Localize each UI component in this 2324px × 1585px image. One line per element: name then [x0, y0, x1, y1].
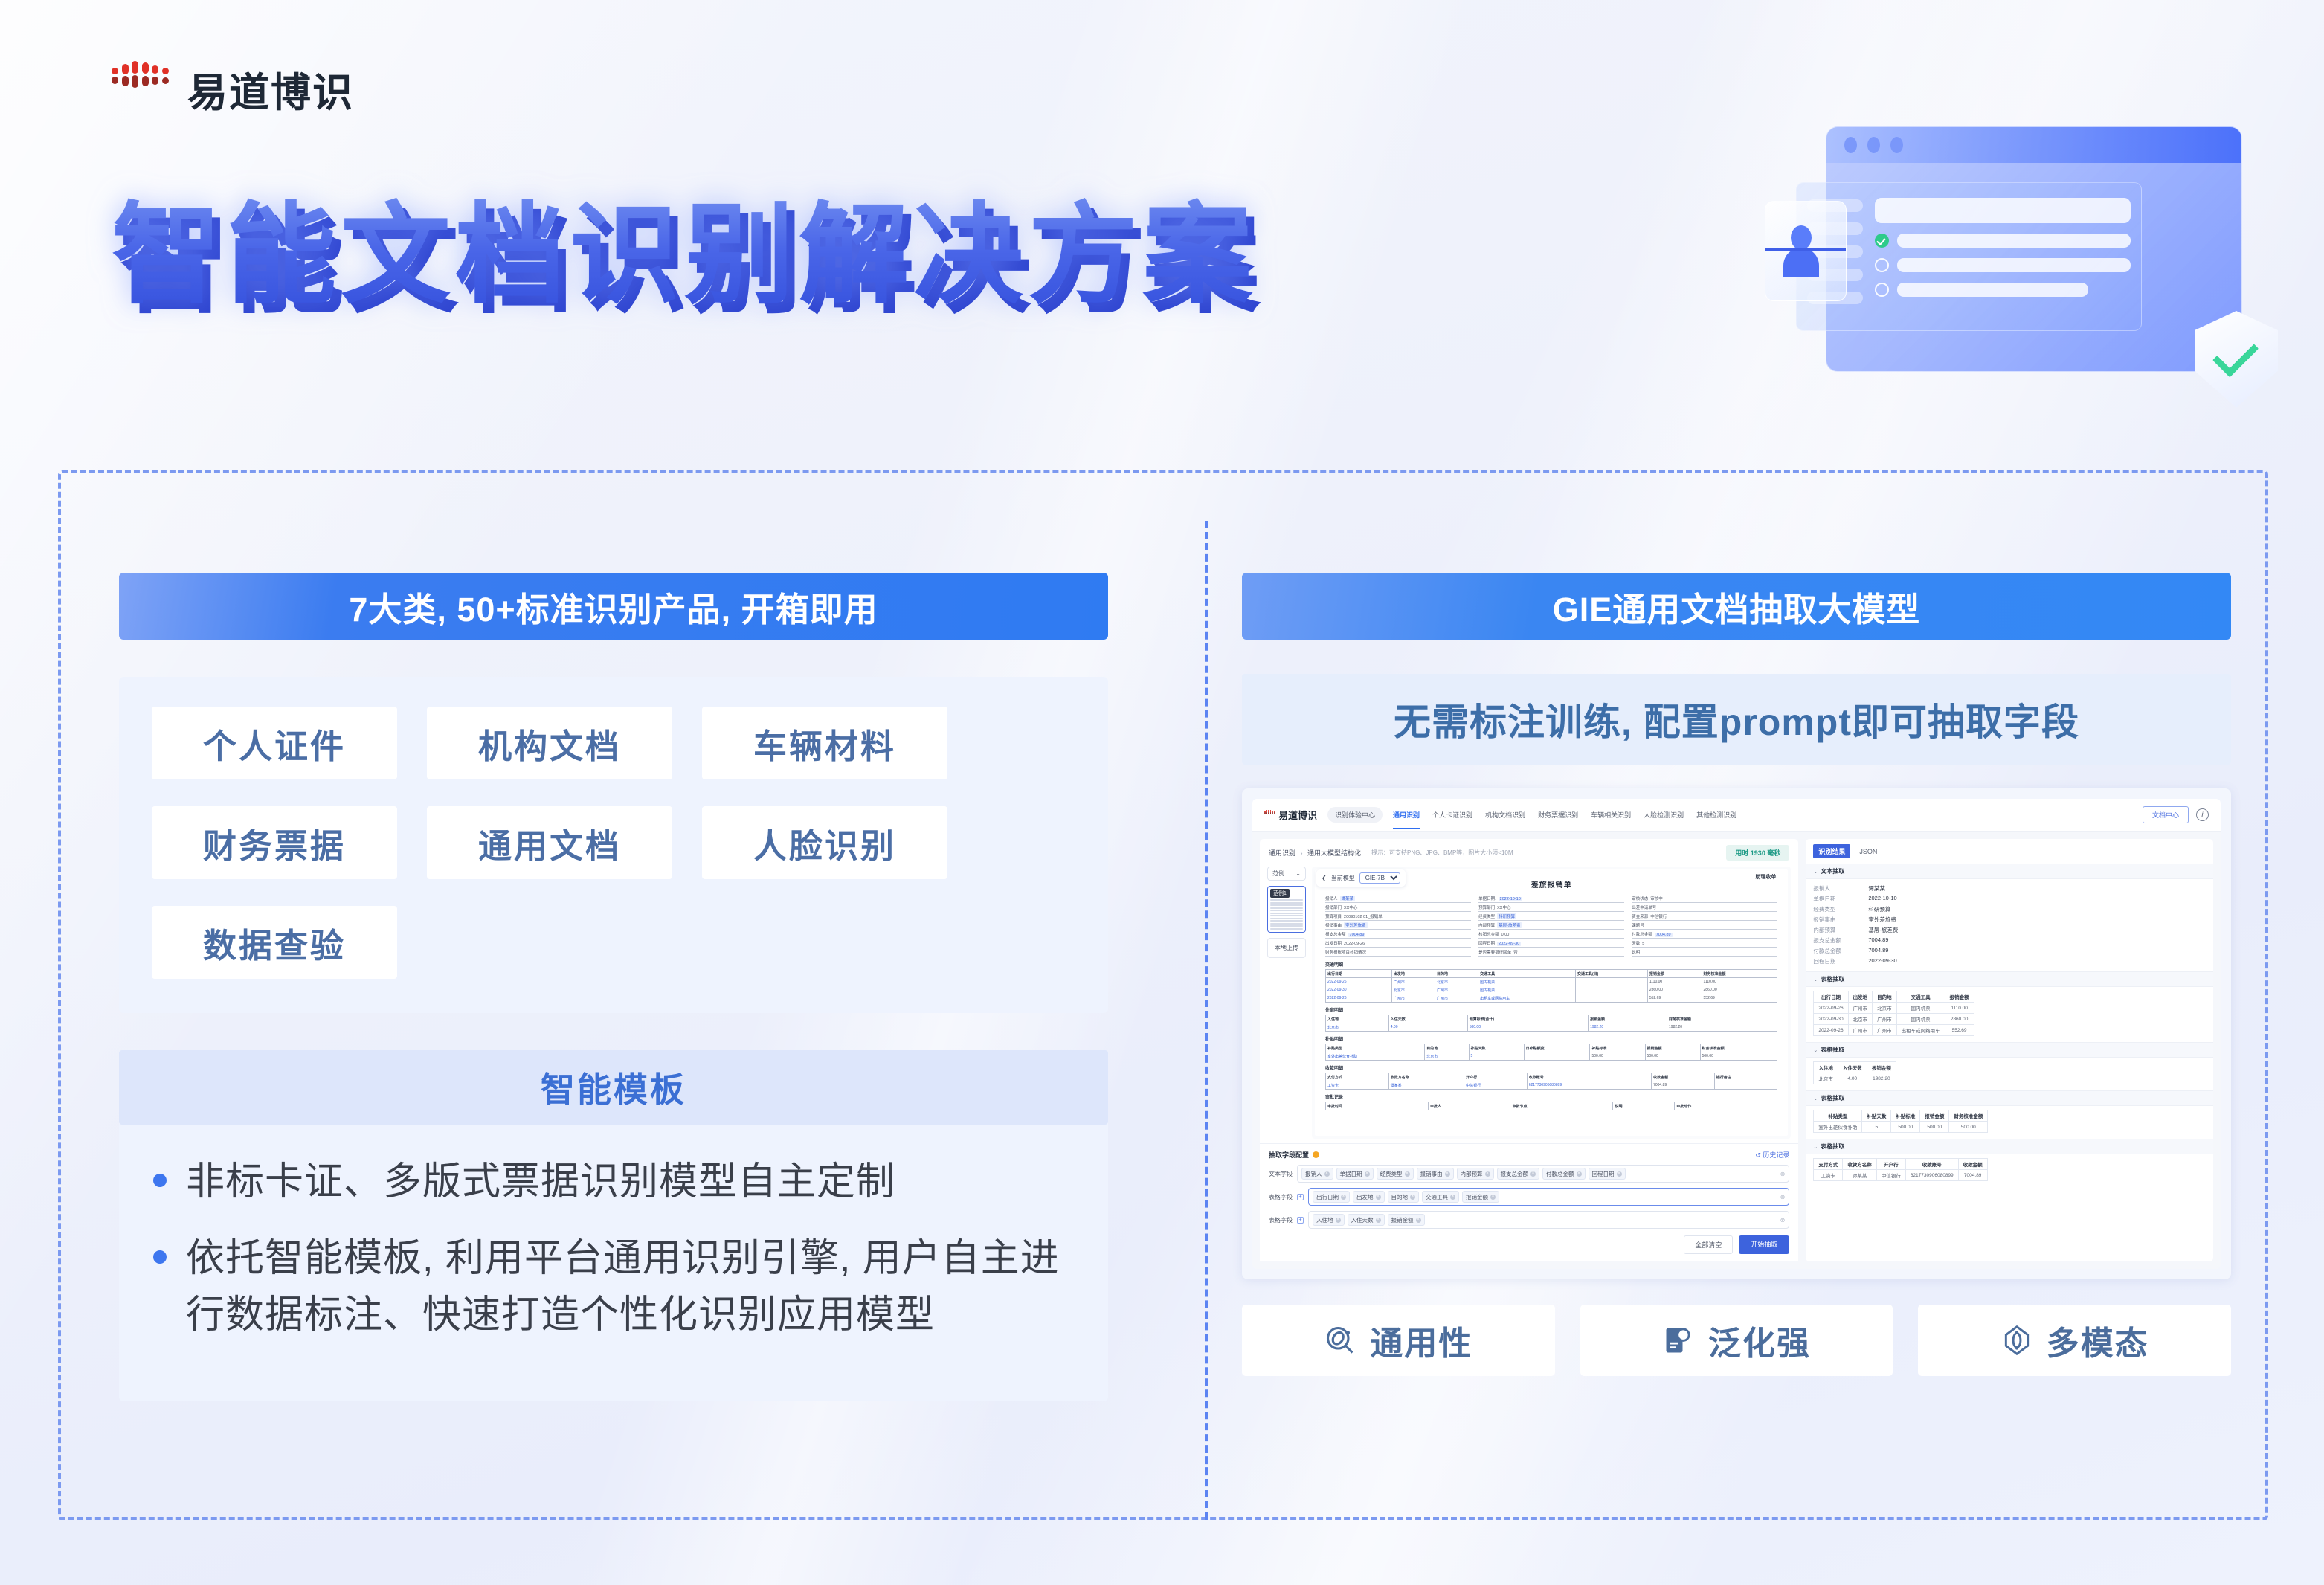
table-header-cell: 目的地 [1435, 970, 1478, 978]
sample-thumbnail[interactable]: 范例1 [1267, 886, 1306, 933]
tab-finance-invoice[interactable]: 财务票据识别 [1538, 810, 1578, 820]
remove-tag-icon[interactable]: × [1405, 1171, 1410, 1177]
table-cell [1575, 978, 1647, 986]
field-tag-label: 付款总金额 [1546, 1170, 1574, 1178]
table-header-row: 支付方式收款方名称开户行收款账号收款金额 [1814, 1159, 1987, 1170]
clear-row-icon[interactable]: ⊗ [1780, 1194, 1786, 1200]
table-cell: 2022-09-26 [1326, 994, 1392, 1003]
category-chip[interactable]: 个人证件 [152, 707, 397, 779]
form-row [1875, 283, 2131, 297]
table-header-cell: 预算标准(合计) [1467, 1015, 1588, 1023]
field-tag[interactable]: 报销事由× [1417, 1168, 1454, 1180]
tab-vehicle[interactable]: 车辆相关识别 [1591, 810, 1631, 820]
result-field-key: 内部预算 [1813, 926, 1861, 934]
expand-row-icon[interactable]: + [1297, 1194, 1304, 1200]
document-field-key: 内部预算 [1478, 922, 1495, 928]
nav-pill-experience-center[interactable]: 识别体验中心 [1327, 807, 1383, 823]
table-cell: 工资卡 [1326, 1081, 1389, 1090]
gie-app: 易道博识 识别体验中心 通用识别 个人卡证识别 机构文档识别 财务票据识别 车辆… [1252, 799, 2221, 1269]
field-tag[interactable]: 入住天数× [1348, 1214, 1385, 1226]
table-header-cell: 入住天数 [1838, 1062, 1867, 1073]
doc-center-button[interactable]: 文档中心 [2143, 806, 2189, 823]
left-panel: 7大类, 50+标准识别产品, 开箱即用 个人证件 机构文档 车辆材料 财务票据… [119, 573, 1108, 1401]
window-dot [1867, 137, 1880, 153]
result-table: 支付方式收款方名称开户行收款账号收款金额工资卡谭某某中信银行6217730906… [1813, 1158, 1987, 1181]
field-tag[interactable]: 单据日期× [1336, 1168, 1374, 1180]
table-cell: 工资卡 [1814, 1170, 1843, 1181]
bullet-text: 依托智能模板, 利用平台通用识别引擎, 用户自主进行数据标注、快速打造个性化识别… [186, 1231, 1074, 1343]
table-row: 工资卡谭某某中信银行62177309060808997004.89 [1326, 1081, 1777, 1090]
sample-select[interactable]: 范例 ⌄ [1267, 867, 1306, 881]
config-tag-box[interactable]: 报销人×单据日期×经费类型×报销事由×内部预算×报支总金额×付款总金额×回程日期… [1297, 1165, 1789, 1183]
chevron-down-icon: ⌄ [1813, 869, 1818, 875]
result-field: 报支总金额7004.89 [1813, 935, 2206, 945]
smart-template-title: 智能模板 [119, 1050, 1108, 1125]
sample-sidebar: 范例 ⌄ 范例1 本地上传 [1267, 867, 1306, 1139]
document-field-key: 天数 [1632, 940, 1640, 946]
document-field-key: 回程日期 [1478, 940, 1495, 946]
document-field-key: 付款总金额 [1632, 931, 1652, 937]
form-field-bar [1875, 198, 2131, 223]
bar-pattern-logo-icon [1264, 810, 1275, 820]
window-dot [1844, 137, 1857, 153]
result-field-value: 7004.89 [1868, 936, 1888, 945]
remove-tag-icon[interactable]: × [1376, 1195, 1381, 1200]
result-field-value: 科研预算 [1868, 905, 1890, 913]
tab-personal-card[interactable]: 个人卡证识别 [1432, 810, 1472, 820]
remove-tag-icon[interactable]: × [1416, 1218, 1421, 1223]
category-card: 个人证件 机构文档 车辆材料 财务票据 通用文档 人脸识别 数据查验 [119, 677, 1108, 1013]
bullet-text: 非标卡证、多版式票据识别模型自主定制 [186, 1154, 895, 1210]
result-table-wrap: 出行日期出发地目的地交通工具报销金额2022-09-26广州市北京市国内机票11… [1806, 987, 2213, 1042]
table-header-cell: 银行备注 [1714, 1073, 1777, 1081]
table-header-cell: 入住地 [1326, 1015, 1389, 1023]
result-table-wrap: 支付方式收款方名称开户行收款账号收款金额工资卡谭某某中信银行6217730906… [1806, 1154, 2213, 1187]
table-cell: 5 [1862, 1122, 1891, 1133]
feature-label: 多模态 [2047, 1316, 2149, 1364]
hero-illustration [1759, 112, 2279, 409]
brand-logo: 易道博识 [112, 60, 354, 118]
list-item: 依托智能模板, 利用平台通用识别引擎, 用户自主进行数据标注、快速打造个性化识别… [153, 1231, 1074, 1343]
table-cell: 2860.00 [1702, 986, 1777, 994]
table-cell: 1110.00 [1702, 978, 1777, 986]
document-field-value: 20090102 01_报销单 [1344, 913, 1383, 919]
remove-tag-icon[interactable]: × [1410, 1195, 1415, 1200]
feature-label: 通用性 [1370, 1316, 1472, 1364]
document-page: 助理收单 差旅报销单 报销人谭某某单据日期:2022-10-10审核状态审核中报… [1315, 869, 1788, 1136]
category-chip[interactable]: 机构文档 [427, 707, 672, 779]
field-tag-label: 报销人 [1305, 1170, 1322, 1178]
remove-tag-icon[interactable]: × [1336, 1218, 1341, 1223]
table-cell: 北京市 [1425, 1052, 1469, 1061]
brand-name: 易道博识 [187, 60, 354, 118]
document-field-key: 报销事由 [1325, 922, 1342, 928]
category-chip-list: 个人证件 机构文档 车辆材料 财务票据 通用文档 人脸识别 数据查验 [119, 677, 1108, 1013]
chevron-down-icon: ⌄ [1813, 1144, 1818, 1150]
config-tag-box[interactable]: 入住地×入住天数×报销金额×⊗ [1308, 1211, 1789, 1229]
table-cell: 500.00 [1700, 1052, 1777, 1061]
app-screenshot: 易道博识 识别体验中心 通用识别 个人卡证识别 机构文档识别 财务票据识别 车辆… [1242, 788, 2231, 1279]
table-header-cell: 支付方式 [1326, 1073, 1389, 1081]
chevron-down-icon: ⌄ [1813, 977, 1818, 983]
table-header-cell: 审批时间 [1326, 1102, 1429, 1110]
result-table: 补贴类型补贴天数补贴标准报销金额财务核准金额室外出差伙食补助5500.00500… [1813, 1110, 1988, 1133]
work-row: 范例 ⌄ 范例1 本地上传 [1260, 867, 1798, 1143]
table-header-row: 出行日期出发地目的地交通工具报销金额 [1814, 991, 1974, 1003]
tab-general-recognition[interactable]: 通用识别 [1393, 810, 1420, 820]
field-tag-label: 报支总金额 [1501, 1170, 1529, 1178]
field-tag-label: 报销事由 [1420, 1170, 1443, 1178]
avatar-head [1791, 225, 1812, 250]
field-tag[interactable]: 入住地× [1313, 1214, 1345, 1226]
radio-empty-icon [1875, 283, 1889, 297]
document-field-key: 报销人 [1325, 896, 1338, 901]
document-corner-note: 助理收单 [1755, 873, 1776, 881]
table-cell: 500.00 [1590, 1052, 1645, 1061]
result-field-key: 报销人 [1813, 884, 1861, 893]
expand-row-icon[interactable]: + [1297, 1217, 1304, 1224]
result-field: 内部预算基层-旅差费 [1813, 925, 2206, 935]
model-selector-bar: ❮ 当前模型 GIE-7B [1316, 869, 1406, 887]
document-field-key: 单据日期: [1478, 896, 1496, 901]
field-tag[interactable]: 内部预算× [1457, 1168, 1494, 1180]
document-field: 单据日期:2022-10-10 [1478, 896, 1624, 903]
document-field-value: 审核中 [1650, 896, 1663, 901]
document-field-key: 课题号 [1632, 922, 1644, 928]
result-field-key: 付款总金额 [1813, 947, 1861, 955]
remove-tag-icon[interactable]: × [1530, 1171, 1536, 1177]
result-field-value: 2022-10-10 [1868, 895, 1896, 903]
table-cell: 1110.00 [1647, 978, 1702, 986]
table-header-cell: 收款金额 [1652, 1073, 1715, 1081]
table-cell: 552.69 [1945, 1025, 1974, 1036]
result-text-section-title: 文本抽取 [1821, 867, 1844, 875]
sample-thumbnail-label: 范例1 [1270, 889, 1290, 898]
smart-template-card: 智能模板 非标卡证、多版式票据识别模型自主定制 依托智能模板, 利用平台通用识别… [119, 1050, 1108, 1401]
table-row: 2022-09-30北京市广州市国内机票2860.002860.00 [1326, 986, 1777, 994]
model-select[interactable]: GIE-7B [1359, 872, 1400, 884]
field-tag[interactable]: 报销金额× [1388, 1214, 1425, 1226]
field-tag-label: 入住地 [1316, 1216, 1333, 1224]
document-field-value: 2022-09-30 [1497, 942, 1521, 946]
app-navbar: 易道博识 识别体验中心 通用识别 个人卡证识别 机构文档识别 财务票据识别 车辆… [1252, 799, 2221, 832]
clear-row-icon[interactable]: ⊗ [1780, 1171, 1786, 1177]
app-brand: 易道博识 [1264, 808, 1317, 822]
extract-config: 抽取字段配置 ! ↺ 历史记录 文本字段报销人×单据日期×经费类型×报销事由×内… [1260, 1143, 1798, 1261]
tab-face-detect[interactable]: 人脸检测识别 [1644, 810, 1684, 820]
config-field-row: 表格字段+入住地×入住天数×报销金额×⊗ [1269, 1211, 1789, 1229]
field-tag[interactable]: 报支总金额× [1497, 1168, 1540, 1180]
clear-all-button[interactable]: 全部清空 [1684, 1235, 1733, 1254]
table-cell: 500.00 [1920, 1122, 1949, 1133]
field-tag[interactable]: 目的地× [1388, 1191, 1420, 1203]
field-tag-label: 目的地 [1391, 1193, 1409, 1201]
document-field: 报销人谭某某 [1325, 896, 1471, 903]
table-header-cell: 出行日期 [1326, 970, 1392, 978]
field-tag-label: 出发地 [1356, 1193, 1374, 1201]
table-row: 2022-09-26广州市广州市出租车或网络用车552.69552.69 [1326, 994, 1777, 1003]
table-header-cell: 收款账号 [1527, 1073, 1651, 1081]
document-field: 课题号 [1632, 922, 1777, 930]
document-field-value: 科研预算 [1497, 913, 1516, 919]
table-cell: 室外出差伙食补助 [1814, 1122, 1862, 1133]
table-cell: 广州市 [1391, 978, 1435, 986]
result-field-key: 回程日期 [1813, 957, 1861, 965]
document-field: 回程日期2022-09-30 [1478, 940, 1624, 948]
document-field: 报销部门XX中心 [1325, 904, 1471, 912]
page-title: 智能文档识别解决方案 智能文档识别解决方案 [112, 195, 1257, 316]
result-field-key: 单据日期 [1813, 895, 1861, 903]
app-nav-tabs: 通用识别 个人卡证识别 机构文档识别 财务票据识别 车辆相关识别 人脸检测识别 … [1393, 810, 1736, 820]
table-header-cell: 补贴天数 [1862, 1110, 1891, 1122]
table-cell: 6217730906080899 [1527, 1081, 1651, 1090]
field-tag[interactable]: 出行日期× [1313, 1191, 1350, 1203]
field-tag[interactable]: 付款总金额× [1542, 1168, 1586, 1180]
tab-org-document[interactable]: 机构文档识别 [1485, 810, 1525, 820]
result-table-wrap: 补贴类型补贴天数补贴标准报销金额财务核准金额室外出差伙食补助5500.00500… [1806, 1106, 2213, 1139]
result-field: 单据日期2022-10-10 [1813, 893, 2206, 904]
local-upload-button[interactable]: 本地上传 [1267, 938, 1306, 958]
right-panel-header: GIE通用文档抽取大模型 [1242, 573, 2231, 640]
document-field-value: 5 [1642, 942, 1644, 946]
result-table: 入住地入住天数报销金额北京市4.001982.20 [1813, 1061, 1896, 1084]
result-table-section-header[interactable]: ⌄表格抽取 [1806, 1139, 2213, 1154]
remove-tag-icon[interactable]: × [1365, 1171, 1370, 1177]
table-header-cell: 出行日期 [1814, 991, 1848, 1003]
table-cell: 中信银行 [1464, 1081, 1528, 1090]
table-header-cell: 审批人 [1429, 1102, 1510, 1110]
table-header-cell: 收款账号 [1905, 1159, 1958, 1170]
table-header-cell: 交通工具 [1478, 970, 1576, 978]
result-table-section-header[interactable]: ⌄表格抽取 [1806, 971, 2213, 987]
document-table-title: 补贴明细 [1325, 1035, 1777, 1042]
table-cell: 广州市 [1873, 1025, 1897, 1036]
table-row: 2022-09-26广州市北京市国内机票1110.00 [1814, 1003, 1974, 1014]
table-header-cell: 报销金额 [1867, 1062, 1896, 1073]
table-header-cell: 报销金额 [1645, 1044, 1700, 1052]
document-field: 是否需要银行回单否 [1478, 949, 1624, 957]
document-field-value: 7004.89 [1348, 933, 1366, 937]
right-panel-subtitle: 无需标注训练, 配置prompt即可抽取字段 [1242, 674, 2231, 765]
category-chip[interactable]: 通用文档 [427, 806, 672, 879]
table-cell: 北京市 [1848, 1014, 1873, 1025]
form-field-bar [1897, 234, 2131, 248]
table-header-cell: 说明 [1613, 1102, 1675, 1110]
document-field: 说明 [1632, 949, 1777, 957]
remove-tag-icon[interactable]: × [1445, 1171, 1450, 1177]
document-field-key: 预算部门 [1478, 904, 1495, 910]
document-field-value: 7004.89 [1655, 933, 1673, 937]
document-field: 内部预算基层-旅差费 [1478, 922, 1624, 930]
document-viewer: ❮ 当前模型 GIE-7B 助理收单 差旅报销单 报销人谭某某单据日期:2022… [1312, 867, 1791, 1139]
document-field-value: 谭某某 [1340, 896, 1356, 901]
table-cell: 580.00 [1467, 1023, 1588, 1032]
table-header-row: 入住地入住天数预算标准(合计)报销金额财务核准金额 [1326, 1015, 1777, 1023]
table-cell: 室外出差伙食补助 [1326, 1052, 1425, 1061]
document-field: 付款总金额7004.89 [1632, 931, 1777, 939]
result-field-value: 2022-09-30 [1868, 957, 1896, 965]
form-panel [1796, 182, 2142, 331]
model-label: 当前模型 [1331, 874, 1355, 882]
field-tag[interactable]: 交通工具× [1422, 1191, 1459, 1203]
tab-recognition-result[interactable]: 识别结果 [1813, 844, 1850, 858]
result-field: 报销人谭某某 [1813, 883, 2206, 893]
table-cell: 2022-09-26 [1326, 978, 1392, 986]
table-cell: 北京市 [1814, 1073, 1838, 1084]
table-header-cell: 报销金额 [1647, 970, 1702, 978]
table-cell: 2022-09-30 [1326, 986, 1392, 994]
form-field-bar [1897, 258, 2131, 272]
table-cell: 1982.20 [1667, 1023, 1777, 1032]
table-header-cell: 开户行 [1464, 1073, 1528, 1081]
remove-tag-icon[interactable]: × [1485, 1171, 1490, 1177]
breadcrumb-parent[interactable]: 通用识别 [1269, 849, 1295, 857]
config-field-row: 文本字段报销人×单据日期×经费类型×报销事由×内部预算×报支总金额×付款总金额×… [1269, 1165, 1789, 1183]
tab-json[interactable]: JSON [1859, 848, 1877, 855]
list-item: 非标卡证、多版式票据识别模型自主定制 [153, 1154, 1074, 1210]
result-field: 报销事由室外差旅费 [1813, 914, 2206, 925]
thumbnail-lines [1270, 899, 1303, 930]
result-field: 经费类型科研预算 [1813, 904, 2206, 914]
page-title-front: 智能文档识别解决方案 [112, 191, 1257, 319]
document-field-value: 室外差旅费 [1344, 922, 1368, 928]
table-header-cell: 财务核准金额 [1949, 1110, 1988, 1122]
category-chip[interactable]: 数据查验 [152, 906, 397, 979]
field-tag-label: 出行日期 [1316, 1193, 1339, 1201]
table-header-cell: 入住地 [1814, 1062, 1838, 1073]
config-row-label: 文本字段 [1269, 1170, 1293, 1178]
field-tag-label: 报销金额 [1391, 1216, 1414, 1224]
field-tag-label: 入住天数 [1351, 1216, 1374, 1224]
form-row [1875, 234, 2131, 248]
document-field: 财务报账项目核销情况 [1325, 949, 1471, 957]
table-header-row: 入住地入住天数报销金额 [1814, 1062, 1896, 1073]
document-field-value: 2022-10-10 [1499, 897, 1522, 901]
info-circle-icon[interactable]: i [2196, 808, 2209, 821]
extract-config-title: 抽取字段配置 [1269, 1150, 1309, 1160]
category-chip[interactable]: 财务票据 [152, 806, 397, 879]
field-tag[interactable]: 报销人× [1301, 1168, 1333, 1180]
document-tables: 交通明细出行日期出发地目的地交通工具交通工具(日)报销金额财务核准金额2022-… [1325, 961, 1777, 1110]
table-header-cell: 开户行 [1876, 1159, 1905, 1170]
remove-tag-icon[interactable]: × [1324, 1171, 1330, 1177]
form-row [1875, 258, 2131, 272]
table-cell: 2022-09-26 [1814, 1003, 1848, 1014]
document-field: 预算项目20090102 01_报销单 [1325, 913, 1471, 921]
table-row: 2022-09-26广州市广州市出租车或网络用车552.69 [1814, 1025, 1974, 1036]
upload-hint: 提示：可支持PNG、JPG、BMP等，图片大小须<10M [1371, 849, 1513, 857]
table-header-row: 支付方式收款方名称开户行收款账号收款金额银行备注 [1326, 1073, 1777, 1081]
remove-tag-icon[interactable]: × [1376, 1218, 1381, 1223]
table-cell: 1982.20 [1867, 1073, 1896, 1084]
table-cell: 谭某某 [1843, 1170, 1877, 1181]
document-field-key: 出发日期 [1325, 940, 1342, 946]
field-tag[interactable]: 报销金额× [1462, 1191, 1499, 1203]
timing-badge: 用时 1930 毫秒 [1726, 845, 1789, 861]
right-panel: GIE通用文档抽取大模型 无需标注训练, 配置prompt即可抽取字段 易道博识… [1242, 573, 2231, 1376]
chevron-down-icon: ⌄ [1813, 1047, 1818, 1053]
remove-tag-icon[interactable]: × [1341, 1195, 1346, 1200]
remove-tag-icon[interactable]: × [1577, 1171, 1582, 1177]
result-field-value: 7004.89 [1868, 947, 1888, 955]
remove-tag-icon[interactable]: × [1450, 1195, 1455, 1200]
document-table-title: 审批记录 [1325, 1093, 1777, 1100]
extract-config-buttons: 全部清空 开始抽取 [1269, 1235, 1789, 1254]
table-cell: 国内机票 [1896, 1014, 1945, 1025]
result-table-section-header[interactable]: ⌄表格抽取 [1806, 1090, 2213, 1106]
document-field-key: 财务报账项目核销情况 [1325, 949, 1366, 955]
document-field-grid: 报销人谭某某单据日期:2022-10-10审核状态审核中报销部门XX中心预算部门… [1325, 896, 1777, 957]
config-tag-box[interactable]: 出行日期×出发地×目的地×交通工具×报销金额×⊗ [1308, 1188, 1789, 1206]
table-header-cell: 补贴类型 [1814, 1110, 1862, 1122]
table-cell: 6217730906080899 [1905, 1170, 1958, 1181]
table-cell: 广州市 [1848, 1025, 1873, 1036]
result-table-section-header[interactable]: ⌄表格抽取 [1806, 1042, 2213, 1058]
table-header-cell: 收款方名称 [1843, 1159, 1877, 1170]
field-tag[interactable]: 出发地× [1353, 1191, 1385, 1203]
collapse-left-icon[interactable]: ❮ [1322, 875, 1327, 881]
start-extract-button[interactable]: 开始抽取 [1739, 1235, 1789, 1254]
document-field-key: 是否需要银行回单 [1478, 949, 1511, 955]
table-header-cell: 交通工具(日) [1575, 970, 1647, 978]
app-work-area: 通用识别 › 通用大模型结构化 提示：可支持PNG、JPG、BMP等，图片大小须… [1260, 839, 1798, 1261]
warning-icon: ! [1313, 1151, 1319, 1158]
document-field-key: 预算项目 [1325, 913, 1342, 919]
history-link[interactable]: ↺ 历史记录 [1755, 1150, 1789, 1160]
tab-other-detect[interactable]: 其他检测识别 [1696, 810, 1736, 820]
result-tables: ⌄表格抽取出行日期出发地目的地交通工具报销金额2022-09-26广州市北京市国… [1806, 971, 2213, 1187]
table-header-row: 补贴类型目的地补贴天数日补贴额度补贴标准报销金额财务核准金额 [1326, 1044, 1777, 1052]
table-cell: 1110.00 [1945, 1003, 1974, 1014]
bar-pattern-logo-icon [112, 61, 168, 118]
result-text-fields: 报销人谭某某单据日期2022-10-10经费类型科研预算报销事由室外差旅费内部预… [1806, 879, 2213, 971]
field-tag[interactable]: 回程日期× [1589, 1168, 1626, 1180]
result-text-section-header[interactable]: ⌄ 文本抽取 [1806, 864, 2213, 879]
feature-chip-multimodal[interactable]: 多模态 [1918, 1305, 2231, 1376]
form-field-column [1875, 196, 2131, 317]
field-tag-label: 回程日期 [1592, 1170, 1615, 1178]
table-cell: 4.00 [1838, 1073, 1867, 1084]
field-tag[interactable]: 经费类型× [1377, 1168, 1414, 1180]
table-cell: 谭某某 [1388, 1081, 1464, 1090]
breadcrumb-text: 通用识别 › 通用大模型结构化 [1269, 848, 1361, 858]
document-field-value: XX中心 [1344, 904, 1357, 910]
document-field: 出发日期2022-09-26 [1325, 940, 1471, 948]
breadcrumb-separator: › [1301, 849, 1303, 857]
table-header-cell: 财务核准金额 [1700, 1044, 1777, 1052]
table-cell: 500.00 [1645, 1052, 1700, 1061]
table-cell: 北京市 [1873, 1003, 1897, 1014]
document-stack-icon [1662, 1324, 1695, 1357]
result-field-value: 基层-旅差费 [1868, 926, 1898, 934]
smart-template-bullets: 非标卡证、多版式票据识别模型自主定制 依托智能模板, 利用平台通用识别引擎, 用… [119, 1125, 1108, 1401]
extract-config-header: 抽取字段配置 ! ↺ 历史记录 [1269, 1150, 1789, 1160]
remove-tag-icon[interactable]: × [1490, 1195, 1496, 1200]
document-field: 核销总金额0.00 [1478, 931, 1624, 939]
category-chip[interactable]: 人脸识别 [702, 806, 947, 879]
table-row: 2022-09-30北京市广州市国内机票2860.00 [1814, 1014, 1974, 1025]
document-field-key: 报支总金额 [1325, 931, 1346, 937]
category-chip[interactable]: 车辆材料 [702, 707, 947, 779]
table-header-cell: 出发地 [1848, 991, 1873, 1003]
feature-chip-generalization[interactable]: 泛化强 [1580, 1305, 1893, 1376]
table-header-cell: 报销金额 [1589, 1015, 1667, 1023]
extract-config-rows: 文本字段报销人×单据日期×经费类型×报销事由×内部预算×报支总金额×付款总金额×… [1269, 1165, 1789, 1229]
remove-tag-icon[interactable]: × [1617, 1171, 1622, 1177]
result-field-value: 室外差旅费 [1868, 916, 1896, 924]
clear-row-icon[interactable]: ⊗ [1780, 1217, 1786, 1224]
feature-chip-generality[interactable]: 通用性 [1242, 1305, 1555, 1376]
